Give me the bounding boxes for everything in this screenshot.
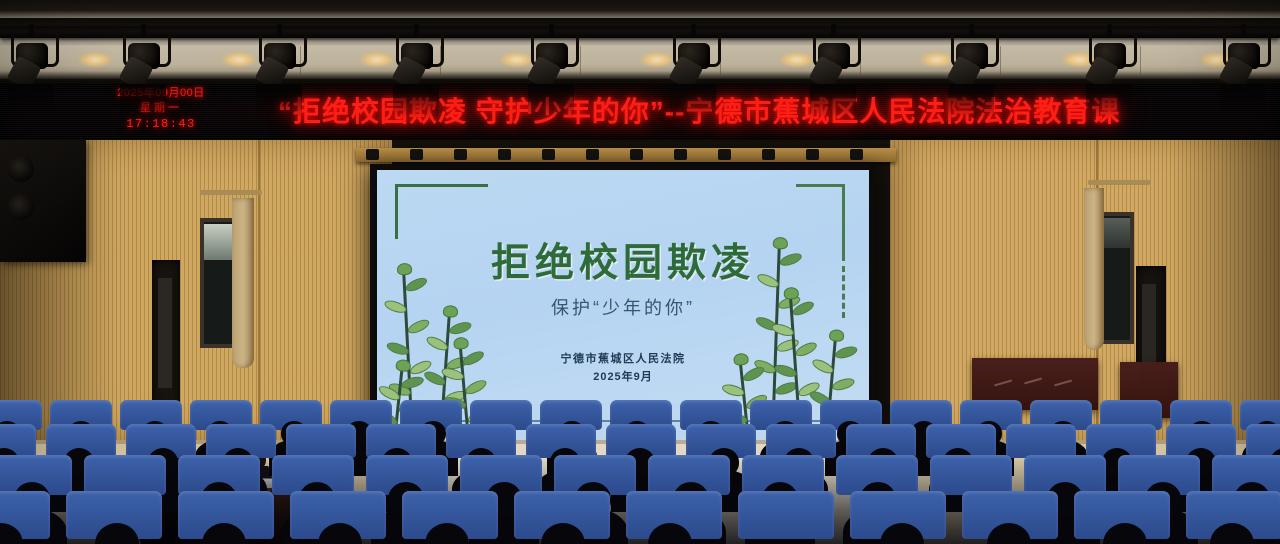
- door-opening-left: [158, 278, 172, 388]
- seat: [1006, 424, 1076, 458]
- stage-light-5: [530, 24, 574, 86]
- speaker-cone-lower-icon: [8, 194, 34, 220]
- rail-clip-7: [630, 149, 643, 160]
- rail-clip-4: [498, 149, 511, 160]
- rail-clip-3: [454, 149, 467, 160]
- led-fixture-shadow-3: [256, 84, 302, 118]
- downlight-4: [500, 52, 534, 67]
- cabinet-highlight-2: [1024, 378, 1042, 384]
- rail-clip-5: [542, 149, 555, 160]
- plant-bud-3: [453, 337, 469, 350]
- led-time: 17:18:43: [86, 116, 236, 132]
- stage-light-8: [950, 24, 994, 86]
- seat: [738, 491, 834, 539]
- window-right: [1100, 212, 1134, 344]
- window-pane-right: [1104, 218, 1130, 248]
- ceiling-seam-8: [1140, 46, 1141, 76]
- right-wall-shadow: [1170, 140, 1280, 440]
- rail-clip-12: [850, 149, 863, 160]
- stage-light-1: [10, 24, 54, 86]
- led-fixture-shadow-6: [670, 84, 716, 118]
- speaker-cone-upper-icon: [8, 156, 34, 182]
- curtain-left: [232, 198, 254, 368]
- downlight-2: [222, 52, 256, 67]
- ceiling-seam-4: [580, 46, 581, 76]
- seat: [84, 455, 166, 495]
- led-fixture-shadow-1: [8, 84, 54, 118]
- slide-title: 拒绝校园欺凌: [377, 232, 869, 288]
- plant-leaf-2-1: [448, 320, 473, 337]
- led-fixture-shadow-10: [1220, 84, 1266, 118]
- seat: [286, 424, 356, 458]
- led-fixture-shadow-8: [948, 84, 994, 118]
- rail-clip-9: [718, 149, 731, 160]
- stage-light-9: [1088, 24, 1132, 86]
- audience-area: [0, 396, 1280, 544]
- led-fixture-shadow-4: [393, 84, 439, 118]
- led-fixture-shadow-7: [810, 84, 856, 118]
- led-banner: 2025年09月00日 星期一 17:18:43 “拒绝校园欺凌 守护少年的你”…: [0, 84, 1280, 142]
- curtain-rod-left: [200, 190, 262, 195]
- downlight-6: [780, 52, 814, 67]
- rail-clip-8: [674, 149, 687, 160]
- rail-clip-1: [366, 149, 379, 160]
- led-fixture-shadow-5: [528, 84, 574, 118]
- curtain-rod-right: [1088, 180, 1150, 185]
- stage-light-4: [395, 24, 439, 86]
- downlight-1: [78, 52, 112, 67]
- slide-organization: 宁德市蕉城区人民法院: [377, 350, 869, 366]
- ceiling: [0, 0, 1280, 86]
- left-wall-corner: [258, 140, 260, 440]
- downlight-5: [640, 52, 674, 67]
- led-fixture-shadow-2: [120, 84, 166, 118]
- slide-subtitle: 保护“少年的你”: [377, 294, 869, 320]
- downlight-3: [360, 52, 394, 67]
- rail-clip-10: [762, 149, 775, 160]
- stage-light-3: [258, 24, 302, 86]
- ceiling-seam-7: [1000, 46, 1001, 76]
- rail-clip-6: [586, 149, 599, 160]
- stage-light-7: [812, 24, 856, 86]
- seat: [930, 455, 1012, 495]
- rail-clip-11: [806, 149, 819, 160]
- wall-speaker-left: [0, 140, 86, 262]
- doorway-left[interactable]: [152, 260, 180, 416]
- stage-light-2: [122, 24, 166, 86]
- stage-light-10: [1222, 24, 1266, 86]
- window-left: [200, 218, 236, 348]
- rail-clip-2: [410, 149, 423, 160]
- downlight-7: [920, 52, 954, 67]
- slide-date: 2025年9月: [377, 368, 869, 384]
- cabinet-highlight-3: [1054, 380, 1072, 386]
- curtain-right: [1084, 188, 1104, 350]
- stage-light-6: [672, 24, 716, 86]
- plant-bud-3: [829, 329, 845, 342]
- auditorium-scene: 2025年09月00日 星期一 17:18:43 “拒绝校园欺凌 守护少年的你”…: [0, 0, 1280, 544]
- cabinet-highlight-1: [994, 380, 1012, 386]
- led-fixture-shadow-9: [1086, 84, 1132, 118]
- window-pane-upper: [204, 224, 232, 260]
